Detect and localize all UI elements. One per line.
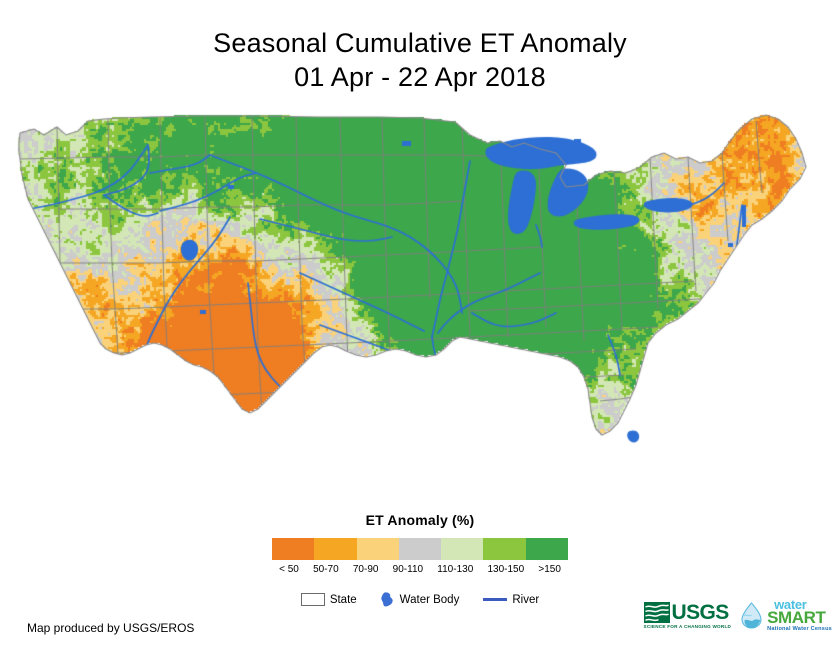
water-droplet-icon [739, 602, 764, 629]
watersmart-subtitle: National Water Census [767, 627, 832, 633]
legend-swatch-2 [357, 538, 399, 560]
legend-swatch-4 [441, 538, 483, 560]
legend-swatch-3 [399, 538, 441, 560]
watersmart-logo: water SMART National Water Census [739, 598, 832, 633]
legend-swatch-1 [314, 538, 356, 560]
title-line-2: 01 Apr - 22 Apr 2018 [0, 60, 840, 94]
agency-logos: USGS science for a changing world water … [644, 598, 832, 633]
legend-symbol-water-body: Water Body [381, 592, 460, 607]
legend-symbol-state-label: State [330, 594, 357, 606]
legend-symbol-state: State [301, 593, 357, 606]
legend-swatch-label-1: 50-70 [306, 563, 346, 576]
legend-swatch-label-5: 130-150 [480, 563, 531, 576]
map-credit: Map produced by USGS/EROS [27, 621, 194, 635]
river-line-icon [483, 598, 507, 601]
legend-swatch-label-0: < 50 [272, 563, 306, 576]
legend-swatch-5 [483, 538, 525, 560]
page-title: Seasonal Cumulative ET Anomaly 01 Apr - … [0, 26, 840, 94]
water-body-icon [381, 592, 395, 607]
usgs-tagline: science for a changing world [644, 624, 732, 629]
usgs-wave-mark-icon [644, 602, 670, 623]
legend-symbol-river-label: River [512, 594, 539, 606]
watersmart-smart-word: SMART [767, 609, 832, 626]
legend-swatch-label-6: >150 [531, 563, 568, 576]
usgs-wordmark: USGS [672, 602, 729, 623]
color-ramp-labels: < 5050-7070-9090-110110-130130-150>150 [272, 563, 568, 576]
legend-swatch-label-2: 70-90 [346, 563, 386, 576]
usgs-logo: USGS science for a changing world [644, 602, 732, 629]
color-ramp [272, 538, 568, 560]
state-outline-icon [301, 593, 325, 606]
legend-swatch-label-3: 90-110 [386, 563, 431, 576]
legend-swatch-6 [526, 538, 568, 560]
legend-symbol-river: River [483, 594, 539, 606]
title-line-1: Seasonal Cumulative ET Anomaly [0, 26, 840, 60]
legend-title: ET Anomaly (%) [0, 512, 840, 528]
legend-swatch-label-4: 110-130 [430, 563, 480, 576]
watersmart-wordmark: water SMART National Water Census [767, 598, 832, 633]
map-legend: ET Anomaly (%) < 5050-7070-9090-110110-1… [0, 512, 840, 607]
legend-swatch-0 [272, 538, 314, 560]
color-ramp-wrapper: < 5050-7070-9090-110110-130130-150>150 [272, 538, 568, 576]
map-figure [0, 113, 840, 503]
conterminous-us-et-anomaly-map[interactable] [0, 113, 840, 503]
legend-symbol-water-body-label: Water Body [400, 594, 460, 606]
